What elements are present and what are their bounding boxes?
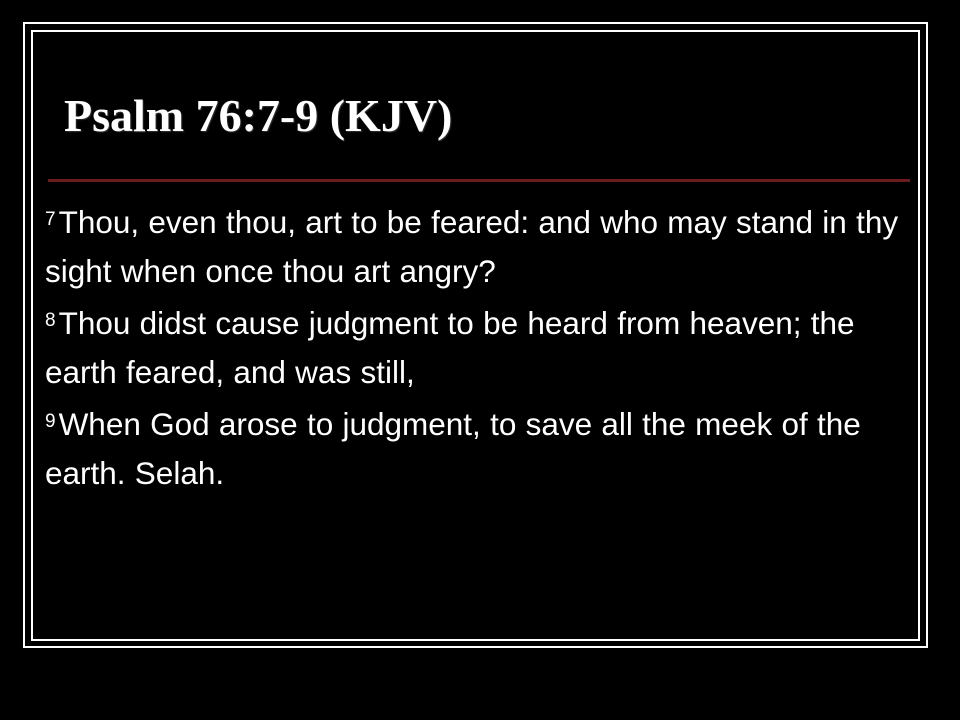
- title-divider-rule: [48, 179, 910, 182]
- verse-number: 8: [45, 310, 59, 331]
- slide-title: Psalm 76:7-9 (KJV): [64, 90, 915, 142]
- verse-text: When God arose to judgment, to save all …: [45, 406, 861, 491]
- scripture-body: 7Thou, even thou, art to be feared: and …: [45, 198, 907, 501]
- verse-number: 9: [45, 411, 59, 432]
- verse-paragraph: 9When God arose to judgment, to save all…: [45, 400, 907, 498]
- verse-text: Thou didst cause judgment to be heard fr…: [45, 305, 855, 390]
- slide-content: Psalm 76:7-9 (KJV) 7Thou, even thou, art…: [45, 90, 915, 630]
- verse-number: 7: [45, 209, 59, 230]
- presentation-slide: Psalm 76:7-9 (KJV) 7Thou, even thou, art…: [0, 0, 960, 720]
- verse-paragraph: 7Thou, even thou, art to be feared: and …: [45, 198, 907, 296]
- verse-paragraph: 8Thou didst cause judgment to be heard f…: [45, 299, 907, 397]
- verse-text: Thou, even thou, art to be feared: and w…: [45, 204, 898, 289]
